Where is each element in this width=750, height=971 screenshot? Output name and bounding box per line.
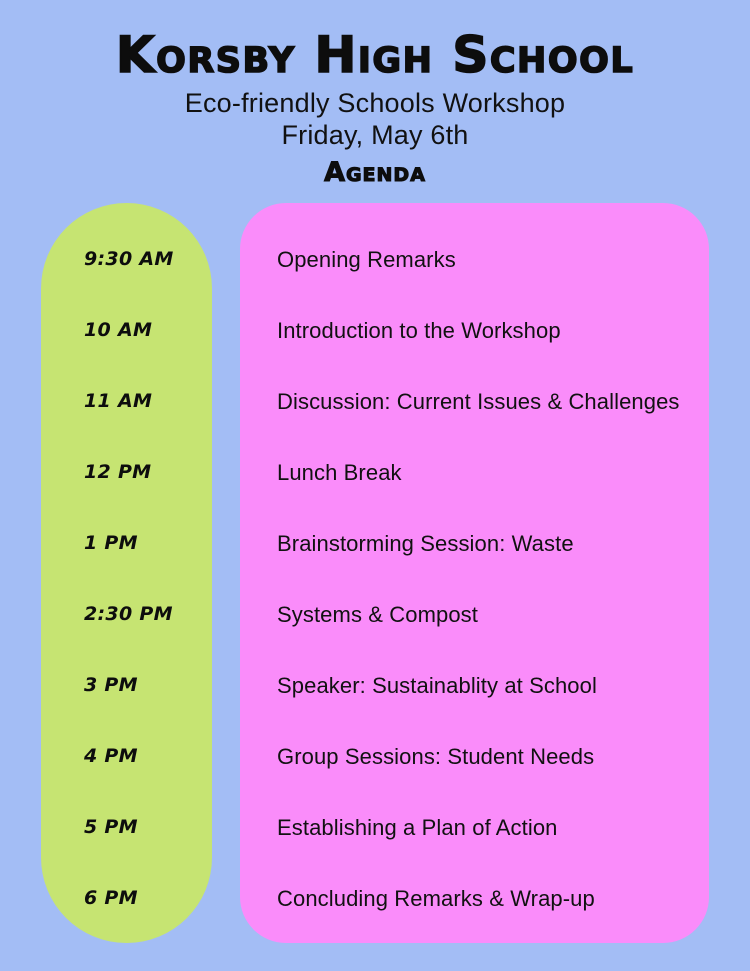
agenda-row: 3 PMSpeaker: Sustainablity at School <box>0 673 750 744</box>
agenda-row: 10 AMIntroduction to the Workshop <box>0 318 750 389</box>
agenda-row-time: 2:30 PM <box>84 602 212 626</box>
agenda-row: 4 PMGroup Sessions: Student Needs <box>0 744 750 815</box>
agenda-row-time: 1 PM <box>84 531 212 555</box>
agenda-row: 9:30 AMOpening Remarks <box>0 247 750 318</box>
agenda-row-label: Introduction to the Workshop <box>277 318 707 344</box>
agenda-rows: 9:30 AMOpening Remarks10 AMIntroduction … <box>0 203 750 943</box>
agenda-row-label: Opening Remarks <box>277 247 707 273</box>
agenda-row-label: Speaker: Sustainablity at School <box>277 673 707 699</box>
agenda-row: 12 PMLunch Break <box>0 460 750 531</box>
agenda-row-label: Concluding Remarks & Wrap-up <box>277 886 707 912</box>
agenda-row-time: 12 PM <box>84 460 212 484</box>
event-date: Friday, May 6th <box>0 119 750 151</box>
agenda-row-time: 11 AM <box>84 389 212 413</box>
poster-header: Korsby High School Eco-friendly Schools … <box>0 0 750 189</box>
agenda-row: 11 AMDiscussion: Current Issues & Challe… <box>0 389 750 460</box>
agenda-row-label: Systems & Compost <box>277 602 707 628</box>
agenda-row-time: 5 PM <box>84 815 212 839</box>
agenda-row-label: Brainstorming Session: Waste <box>277 531 707 557</box>
agenda-row-label: Discussion: Current Issues & Challenges <box>277 389 707 415</box>
agenda-heading: Agenda <box>0 151 750 189</box>
agenda-row: 5 PMEstablishing a Plan of Action <box>0 815 750 886</box>
agenda-row-label: Lunch Break <box>277 460 707 486</box>
agenda-row-time: 10 AM <box>84 318 212 342</box>
agenda-row-time: 6 PM <box>84 886 212 910</box>
agenda-row: 1 PMBrainstorming Session: Waste <box>0 531 750 602</box>
agenda-row-time: 3 PM <box>84 673 212 697</box>
agenda-row: 6 PMConcluding Remarks & Wrap-up <box>0 886 750 957</box>
agenda-row-time: 4 PM <box>84 744 212 768</box>
agenda-poster: Korsby High School Eco-friendly Schools … <box>0 0 750 971</box>
event-subtitle: Eco-friendly Schools Workshop <box>0 84 750 119</box>
agenda-row-label: Group Sessions: Student Needs <box>277 744 707 770</box>
agenda-row-label: Establishing a Plan of Action <box>277 815 707 841</box>
agenda-row: 2:30 PMSystems & Compost <box>0 602 750 673</box>
page-title: Korsby High School <box>0 0 750 84</box>
agenda-row-time: 9:30 AM <box>84 247 212 271</box>
